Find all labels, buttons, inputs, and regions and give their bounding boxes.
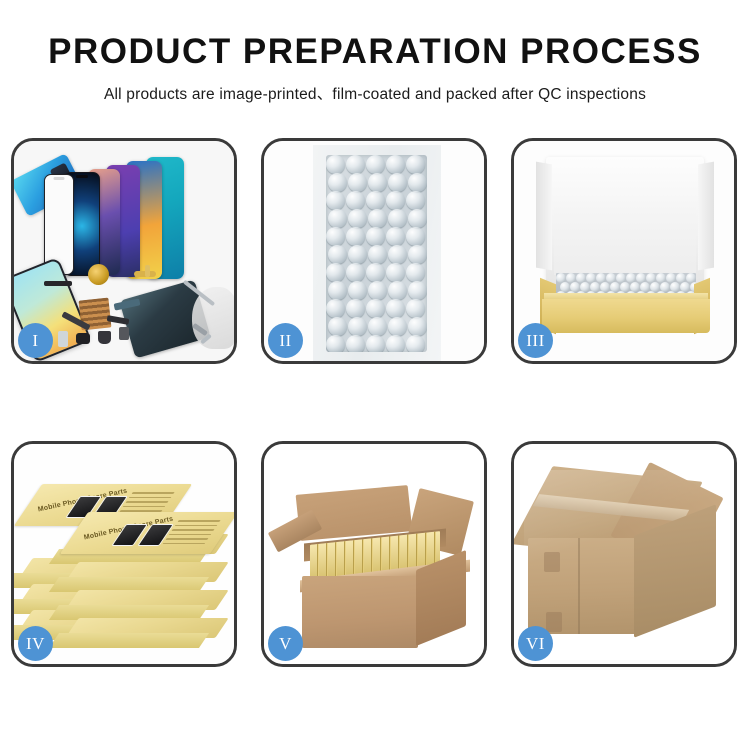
- stacked-box: [72, 618, 222, 644]
- header: PRODUCT PREPARATION PROCESS All products…: [0, 0, 750, 104]
- stacked-box: [72, 590, 222, 616]
- step-badge-vi: VI: [518, 626, 553, 661]
- bubble-cell: [368, 281, 387, 300]
- bubble-cell: [388, 173, 407, 192]
- bubble-cell: [388, 209, 407, 228]
- bubble-cell: [406, 335, 425, 352]
- bubble-cell: [388, 245, 407, 264]
- bubble-cell: [408, 245, 427, 264]
- bubble-cell: [406, 263, 425, 282]
- carton-front-panel-icon: [302, 576, 418, 648]
- step-badge-v: V: [268, 626, 303, 661]
- bubble-cell: [368, 317, 387, 336]
- bubble-cell: [326, 191, 345, 210]
- bubble-cell: [346, 227, 365, 246]
- carton-tab-bottom-icon: [546, 612, 562, 632]
- bubble-cell: [366, 335, 385, 352]
- bubble-cell: [326, 227, 345, 246]
- infographic-page: PRODUCT PREPARATION PROCESS All products…: [0, 0, 750, 750]
- bubble-cell: [348, 209, 367, 228]
- bubble-cell: [388, 281, 407, 300]
- box-stack-icon: Mobile Phone Spare PartsMobile Phone Spa…: [16, 462, 234, 652]
- bubble-cell: [326, 335, 345, 352]
- bubble-cell: [408, 317, 427, 336]
- bubble-cell: [408, 281, 427, 300]
- bubble-cell: [386, 191, 405, 210]
- step-badge-iv: IV: [18, 626, 53, 661]
- process-step-grid: I II III: [11, 138, 739, 667]
- step-panel-iv[interactable]: Mobile Phone Spare PartsMobile Phone Spa…: [11, 441, 237, 667]
- speaker-part-icon: [44, 281, 72, 286]
- step-badge-iii: III: [518, 323, 553, 358]
- bubble-cell: [328, 209, 347, 228]
- box-front-panel-icon: [542, 299, 710, 333]
- bubble-cell: [348, 281, 367, 300]
- bubble-cell: [408, 209, 427, 228]
- bubble-cell: [406, 191, 425, 210]
- bubble-cell: [328, 245, 347, 264]
- bubble-cell: [406, 299, 425, 318]
- hand-icon: [192, 287, 234, 349]
- printed-box-lid: Mobile Phone Spare Parts: [60, 512, 234, 554]
- carton-seam-icon: [578, 538, 580, 634]
- box-right-flap-icon: [698, 162, 714, 271]
- carton-tab-top-icon: [544, 552, 560, 572]
- box-left-flap-icon: [536, 162, 552, 271]
- bubble-wrap-icon: [326, 155, 427, 352]
- step-badge-ii: II: [268, 323, 303, 358]
- page-title: PRODUCT PREPARATION PROCESS: [0, 34, 750, 71]
- box-interior-icon: [554, 203, 696, 275]
- bubble-cell: [328, 317, 347, 336]
- vibrator-part-icon: [76, 333, 90, 344]
- bubble-cell: [326, 155, 345, 174]
- connector-part-icon: [145, 265, 150, 277]
- bubble-cell: [366, 227, 385, 246]
- bubble-cell: [366, 263, 385, 282]
- step-panel-vi[interactable]: VI: [511, 441, 737, 667]
- sim-tray-icon: [58, 331, 68, 347]
- bubble-cell: [328, 173, 347, 192]
- bubble-cell: [366, 155, 385, 174]
- button-part-icon: [119, 327, 129, 340]
- bubble-cell: [348, 173, 367, 192]
- bubble-cell: [346, 191, 365, 210]
- step-panel-ii[interactable]: II: [261, 138, 487, 364]
- bubble-cell: [368, 245, 387, 264]
- buzzer-part-icon: [98, 331, 111, 344]
- bubble-cell: [408, 173, 427, 192]
- bubble-cell: [346, 155, 365, 174]
- step-panel-iii[interactable]: III: [511, 138, 737, 364]
- bubble-cell: [368, 173, 387, 192]
- bubble-cell: [386, 263, 405, 282]
- phone-screen-fan-icon: [42, 155, 232, 285]
- bubble-cell: [326, 299, 345, 318]
- page-subtitle: All products are image-printed、film-coat…: [0, 82, 750, 104]
- bubble-cell: [386, 227, 405, 246]
- bubble-cell: [406, 227, 425, 246]
- bubble-cell: [328, 281, 347, 300]
- bubble-cell: [346, 299, 365, 318]
- stacked-box: [72, 562, 222, 588]
- bubble-cell: [406, 155, 425, 174]
- bubble-cell: [348, 317, 367, 336]
- bubble-cell: [386, 299, 405, 318]
- bubble-cell: [346, 263, 365, 282]
- bubble-cell: [366, 191, 385, 210]
- copper-coil-icon: [88, 264, 109, 285]
- bubble-cell: [346, 335, 365, 352]
- bubble-cell: [326, 263, 345, 282]
- bubble-cell: [368, 209, 387, 228]
- bubble-cell: [348, 245, 367, 264]
- step-badge-i: I: [18, 323, 53, 358]
- bubble-cell: [388, 317, 407, 336]
- bubble-cell: [386, 155, 405, 174]
- step-panel-v[interactable]: V: [261, 441, 487, 667]
- bubble-cell: [366, 299, 385, 318]
- step-panel-i[interactable]: I: [11, 138, 237, 364]
- bubble-cell: [386, 335, 405, 352]
